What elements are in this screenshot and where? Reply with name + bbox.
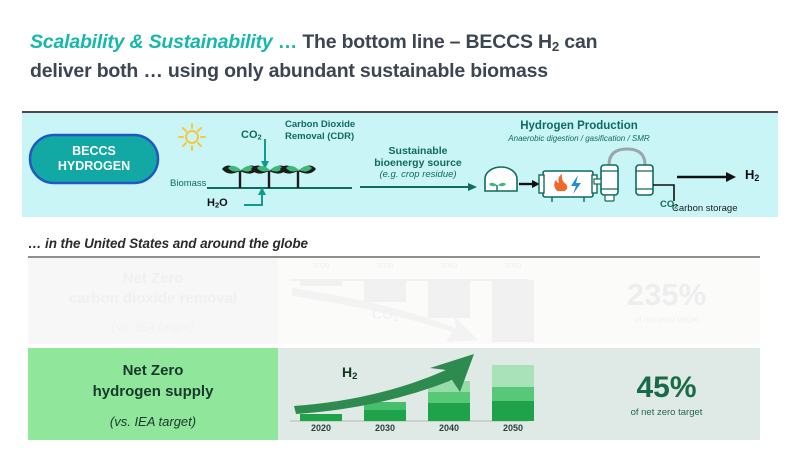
h2-output-arrow (677, 172, 736, 182)
cdr-stat-value: 235% (627, 278, 706, 312)
cdr-label: Carbon Dioxide Removal (CDR) (285, 119, 355, 142)
h2-tick-2050: 2050 (492, 423, 534, 433)
cdr-bar-2020 (300, 280, 342, 286)
digester-icon (485, 167, 517, 191)
row-h2-label-panel: Net Zero hydrogen supply (vs. IEA target… (28, 348, 278, 440)
cdr-bar-2050 (492, 280, 534, 342)
cdr-tick-2020: 2020 (300, 261, 342, 270)
row-hydrogen-supply: Net Zero hydrogen supply (vs. IEA target… (28, 348, 760, 440)
cdr-tick-2030: 2030 (364, 261, 406, 270)
biomass-label: Biomass (170, 178, 206, 189)
h2-tick-2020: 2020 (300, 423, 342, 433)
title-rest-b: can (559, 31, 597, 53)
h2-bar-2040 (428, 381, 470, 421)
hydrogen-production-label: Hydrogen Production Anaerobic digestion … (474, 119, 684, 144)
row-carbon-dioxide-removal: Net Zero carbon dioxide removal (vs. IEA… (28, 258, 760, 344)
reactor-icon (539, 171, 597, 202)
cdr-stat-zone: 235% of net zero target (573, 258, 760, 344)
h2-stat-caption: of net zero target (631, 407, 703, 418)
row-cdr-subtitle: (vs. IEA target) (112, 320, 195, 334)
h2-stat-zone: 45% of net zero target (573, 348, 760, 440)
bioenergy-label: Sustainable bioenergy source (e.g. crop … (358, 145, 478, 181)
cdr-bar-2030 (364, 280, 406, 302)
h2o-intake-arrow (244, 187, 266, 205)
h2-arrow-label: H2 (342, 364, 357, 382)
h2-bar-2050 (492, 365, 534, 421)
bioenergy-arrow (360, 183, 477, 191)
h2o-label: H2O (207, 197, 228, 210)
cdr-tick-2040: 2040 (428, 261, 470, 270)
beccs-process-diagram: BECCS HYDROGEN CO2 Carbon Dioxide Remova… (22, 113, 778, 217)
row-h2-body: 2020 2030 2040 2050 H2 45% of net zero t… (278, 348, 760, 440)
h2-tick-2040: 2040 (428, 423, 470, 433)
co2-intake-arrow (261, 139, 269, 169)
co2-intake-label: CO2 (241, 129, 262, 142)
cdr-tick-2050: 2050 (492, 261, 534, 270)
plant-icon-3 (280, 165, 316, 188)
carbon-storage-label: Carbon storage (672, 203, 737, 214)
row-h2-title: Net Zero hydrogen supply (93, 360, 214, 402)
h2-tick-2030: 2030 (364, 423, 406, 433)
title-ellipsis: … (273, 31, 303, 53)
row-cdr-label-panel: Net Zero carbon dioxide removal (vs. IEA… (28, 258, 278, 344)
h2-output-label: H2 (745, 167, 759, 183)
cdr-stat-caption: of net zero target (634, 314, 698, 324)
row-cdr-body: 2020 2030 2040 2050 CO2 235% of net zero… (278, 258, 760, 344)
title-line-1: Scalability & Sustainability … The botto… (30, 30, 760, 59)
h2-chart: 2020 2030 2040 2050 H2 (278, 348, 573, 440)
row-cdr-title: Net Zero carbon dioxide removal (69, 269, 237, 309)
cdr-arrow-label: CO2 (372, 306, 398, 324)
subheading: … in the United States and around the gl… (28, 236, 760, 251)
h2-stat-value: 45% (636, 371, 696, 404)
sun-icon (179, 124, 205, 150)
cdr-chart: 2020 2030 2040 2050 CO2 (278, 258, 573, 344)
page-title: Scalability & Sustainability … The botto… (30, 30, 760, 84)
beccs-pill-label: BECCS HYDROGEN (30, 135, 158, 183)
subheading-text: … in the United States and around the gl… (28, 236, 760, 251)
h2-bar-2030 (364, 402, 406, 421)
title-rest-a: The bottom line – BECCS H (302, 31, 552, 53)
h2-bar-2020 (300, 414, 342, 421)
title-accent: Scalability & Sustainability (30, 31, 273, 53)
title-line-2: deliver both … using only abundant susta… (30, 59, 760, 84)
row-h2-subtitle: (vs. IEA target) (110, 414, 196, 429)
cdr-bar-2040 (428, 280, 470, 318)
digester-to-reactor-arrow (519, 180, 540, 188)
separator-vessels-icon (594, 149, 653, 201)
